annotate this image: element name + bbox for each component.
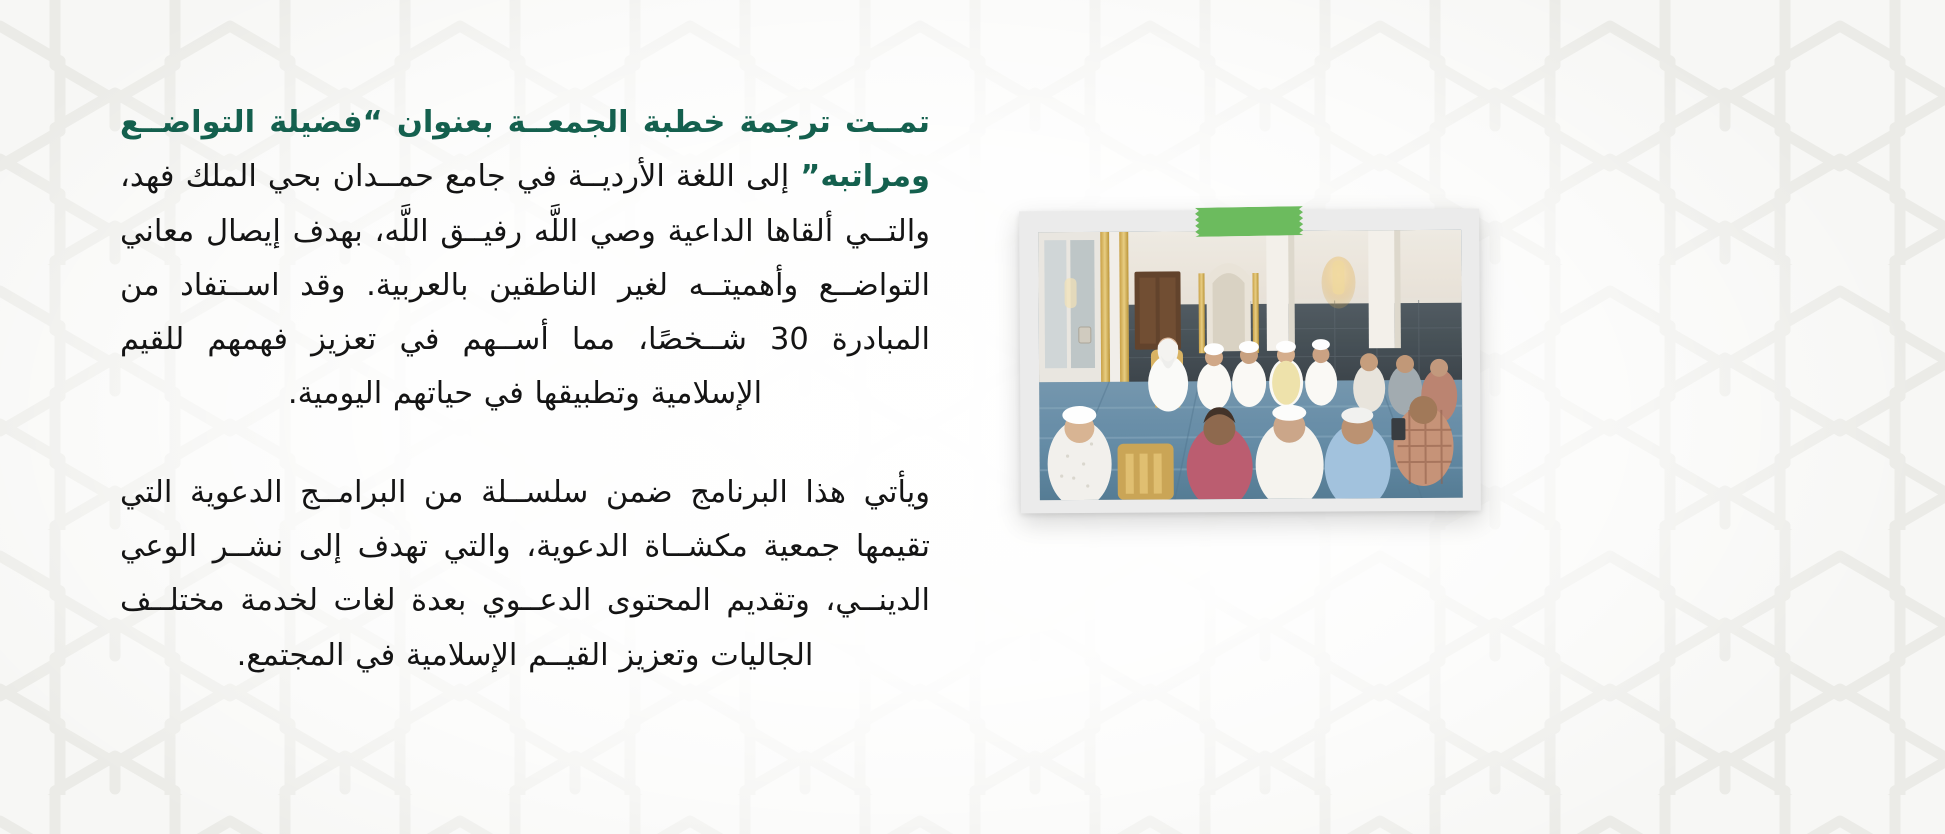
article-text-column: تمــت ترجمة خطبة الجمعــة بعنوان “فضيلة … [120, 96, 930, 683]
mosque-gathering-photo [1038, 230, 1463, 501]
photo-frame [1019, 209, 1481, 514]
paragraph-one-body: إلى اللغة الأرديــة في جامع حمــدان بحي … [120, 159, 930, 411]
card-stage: تمــت ترجمة خطبة الجمعــة بعنوان “فضيلة … [0, 0, 1945, 834]
paragraph-one: تمــت ترجمة خطبة الجمعــة بعنوان “فضيلة … [120, 96, 930, 422]
washi-tape-decoration [1189, 206, 1309, 237]
paragraph-two: ويأتي هذا البرنامج ضمن سلســلة من البرام… [120, 466, 930, 683]
